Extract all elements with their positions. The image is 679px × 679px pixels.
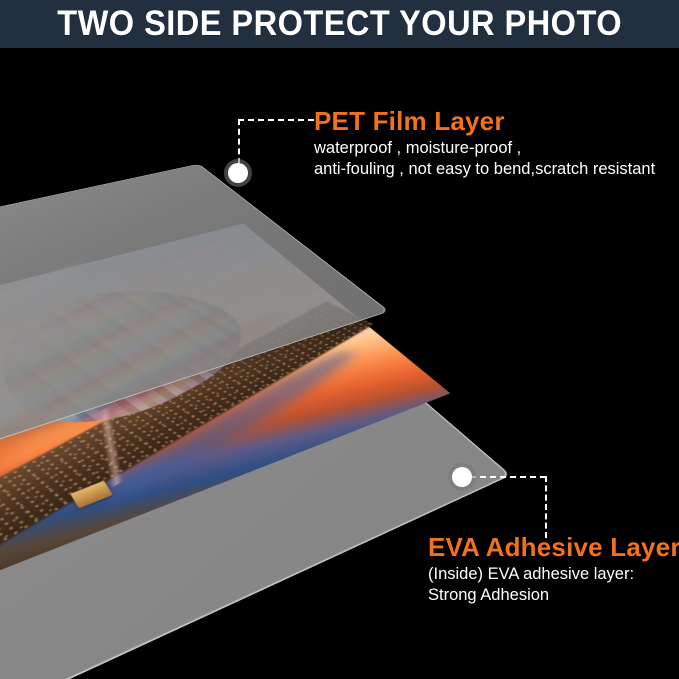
callout-line: anti-fouling , not easy to bend,scratch … <box>314 159 655 180</box>
eva-marker-dot-icon <box>452 467 472 487</box>
callout-title: PET Film Layer <box>314 108 655 135</box>
callout-line: Strong Adhesion <box>428 585 679 606</box>
callout-title: EVA Adhesive Layer <box>428 534 679 561</box>
callout-pet-film-layer: PET Film Layer waterproof , moisture-pro… <box>314 108 655 181</box>
pet-leader-line-horizontal <box>238 119 314 121</box>
header-banner: TWO SIDE PROTECT YOUR PHOTO <box>0 0 679 48</box>
infographic-canvas: TWO SIDE PROTECT YOUR PHOTO <box>0 0 679 679</box>
eva-leader-line-vertical <box>545 476 547 538</box>
pet-marker-dot-icon <box>228 163 248 183</box>
callout-line: (Inside) EVA adhesive layer: <box>428 564 679 585</box>
callout-line: waterproof , moisture-proof , <box>314 138 655 159</box>
eva-leader-line-horizontal <box>470 476 546 478</box>
page-title: TWO SIDE PROTECT YOUR PHOTO <box>57 4 622 44</box>
balloon-basket <box>70 481 113 509</box>
callout-eva-adhesive-layer: EVA Adhesive Layer (Inside) EVA adhesive… <box>428 534 679 607</box>
